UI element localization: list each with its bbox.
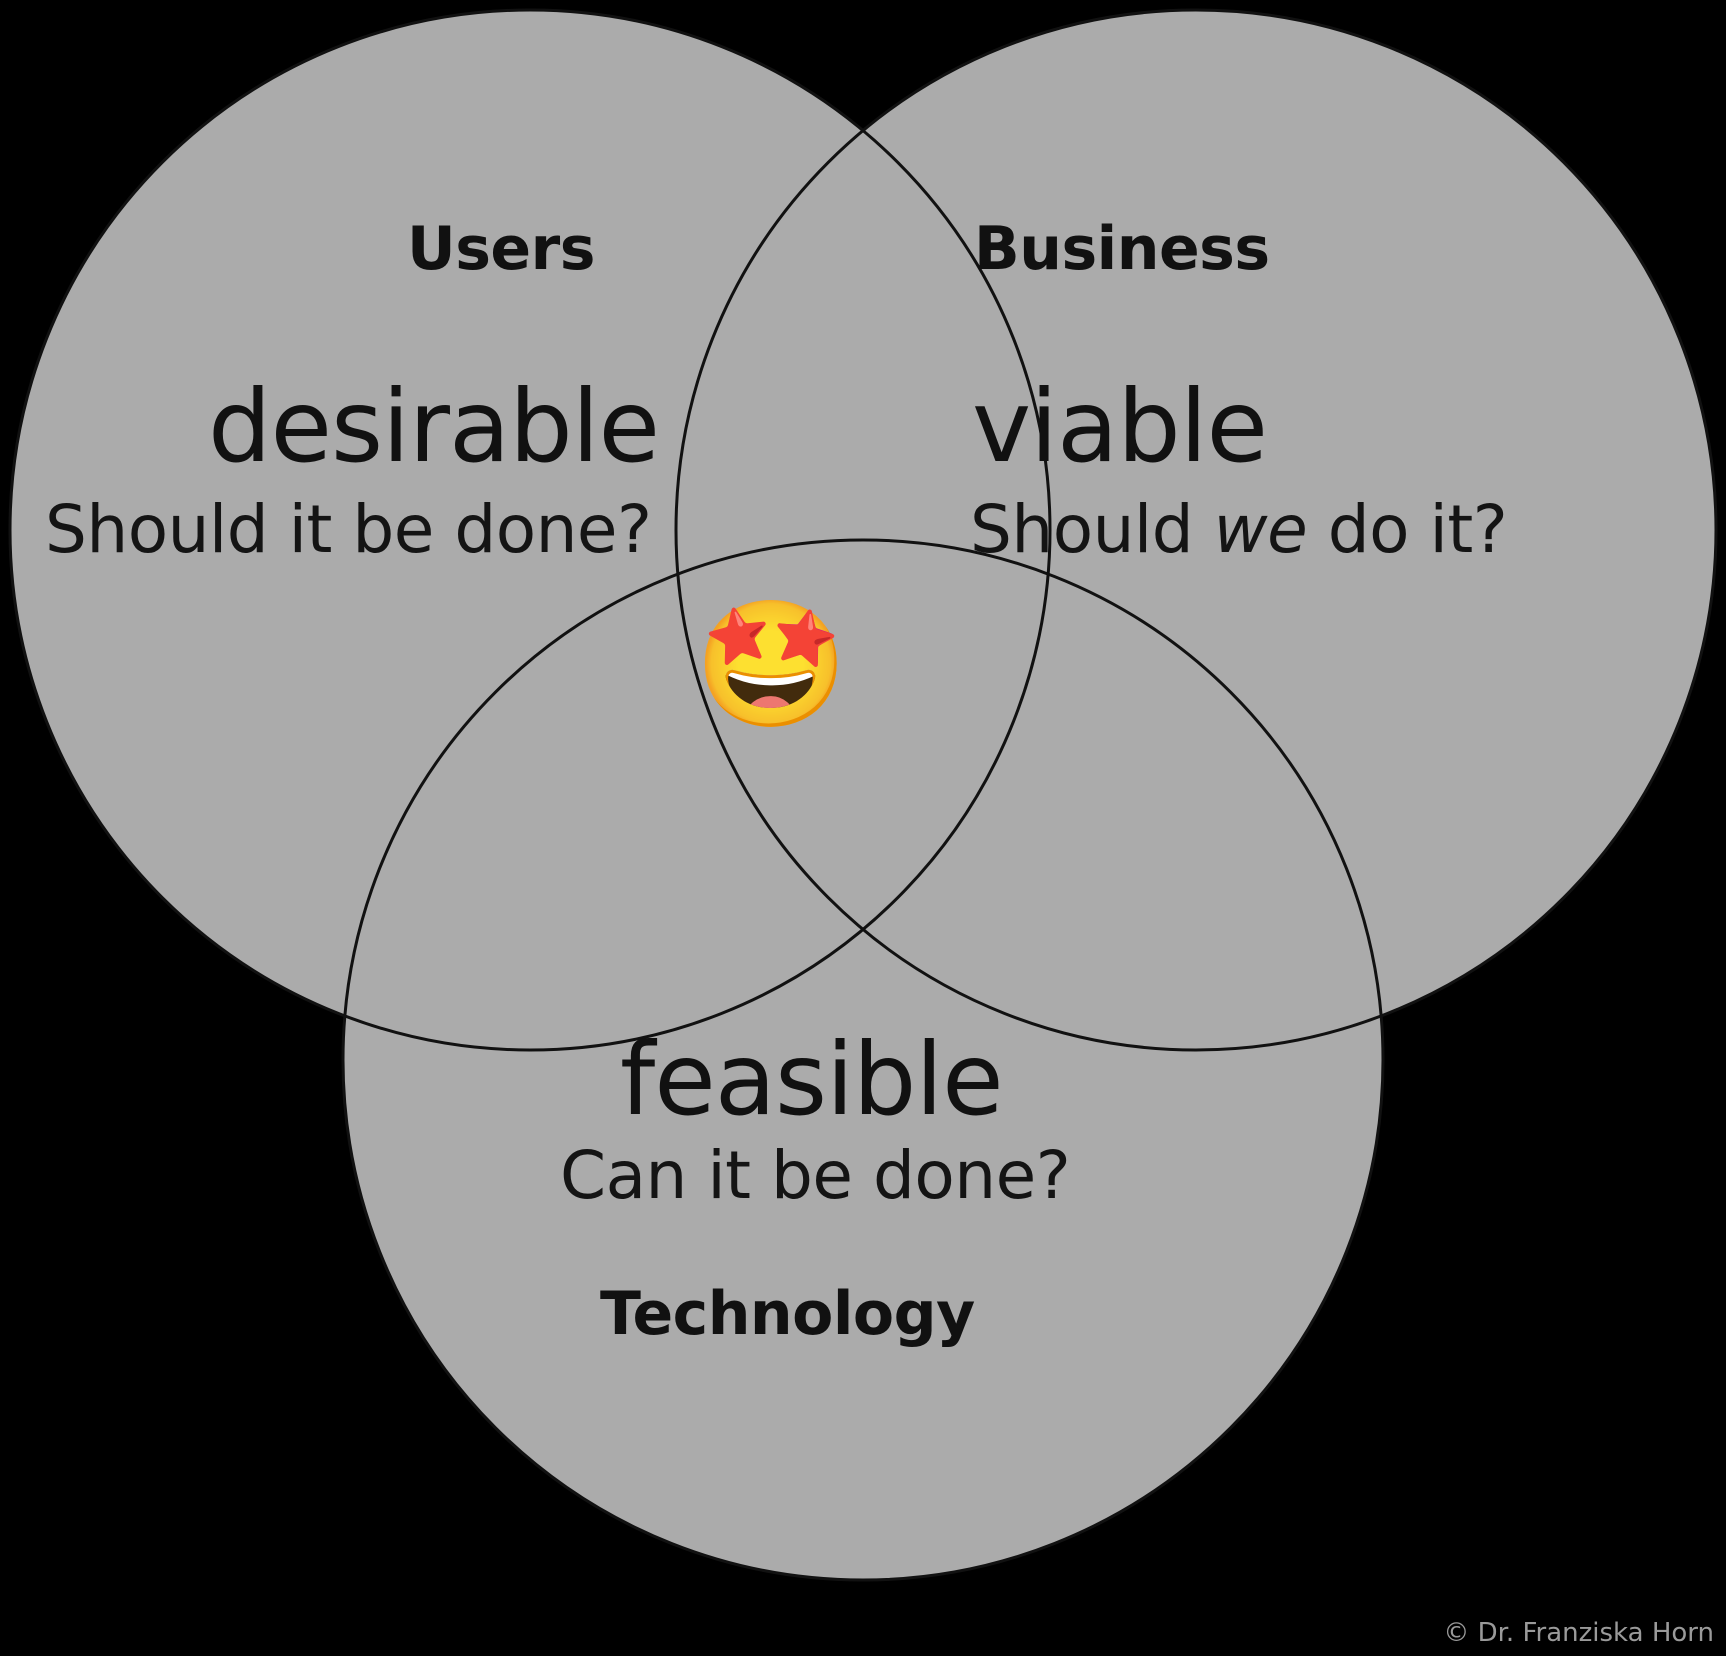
question-business-prefix: Should <box>970 491 1214 568</box>
question-technology-suffix: ? <box>1036 1137 1071 1214</box>
category-label-business: Business <box>974 219 1270 279</box>
venn-circles-svg <box>0 0 1726 1656</box>
question-label-technology: Can it be done? <box>560 1143 1070 1209</box>
attribute-label-feasible: feasible <box>620 1030 1003 1130</box>
star-struck-face-icon: 🤩 <box>694 597 830 733</box>
category-label-users: Users <box>407 219 595 279</box>
question-business-emphasis: we <box>1214 491 1308 568</box>
question-users-prefix: Should it be done <box>45 491 617 568</box>
attribute-label-viable: viable <box>972 377 1267 477</box>
question-business-suffix: do it? <box>1307 491 1507 568</box>
category-label-technology: Technology <box>600 1284 975 1344</box>
question-users-suffix: ? <box>617 491 652 568</box>
copyright-credit: © Dr. Franziska Horn <box>1443 1618 1714 1648</box>
attribute-label-desirable: desirable <box>208 377 659 477</box>
venn-diagram-canvas: Users Business Technology desirable viab… <box>0 0 1726 1656</box>
question-technology-prefix: Can it be done <box>560 1137 1036 1214</box>
question-label-users: Should it be done? <box>45 497 652 563</box>
question-label-business: Should we do it? <box>970 497 1507 563</box>
